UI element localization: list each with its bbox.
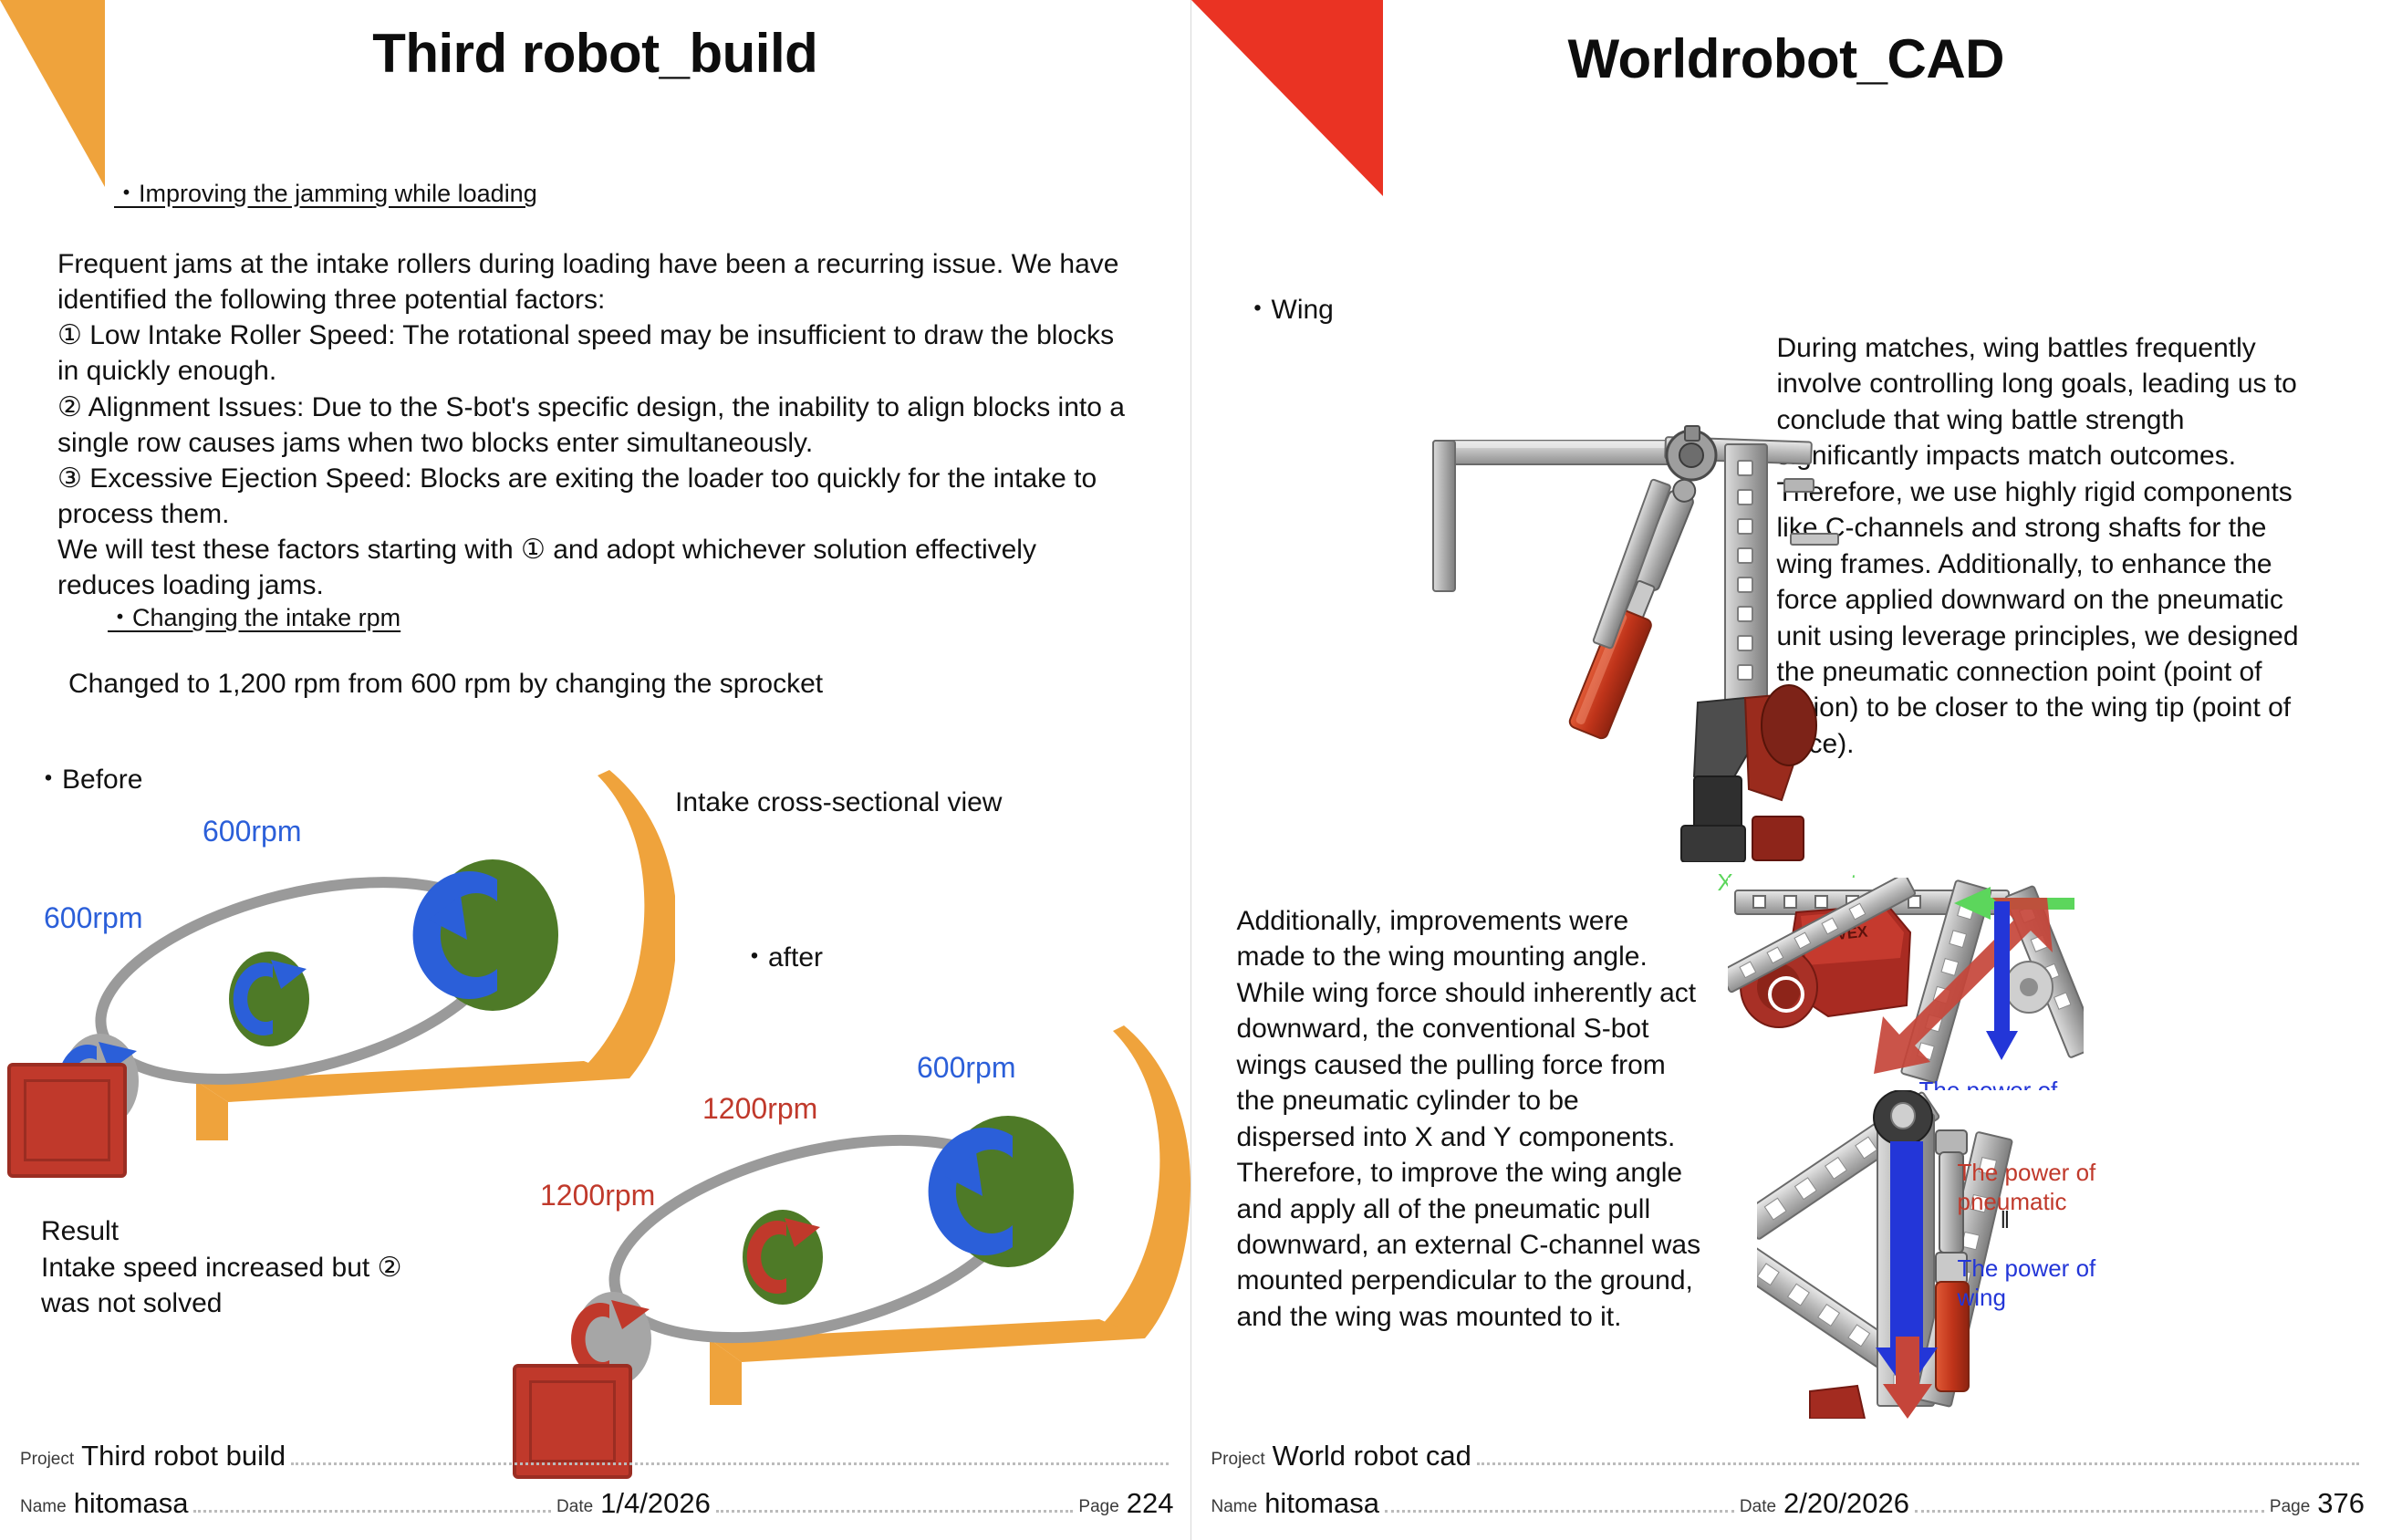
footer-name-label: Name (20, 1497, 67, 1520)
loader-curve-after-icon (1099, 1025, 1190, 1338)
body-paragraph-jamming-factors: Frequent jams at the intake rollers duri… (57, 246, 1134, 603)
footer-name-value: hitomasa (74, 1487, 189, 1520)
footer-page-label: Page (1078, 1497, 1118, 1520)
notebook-spread: Third robot_build ・Improving the jamming… (0, 0, 2381, 1540)
footer-name-row: Name hitomasa Date 2/20/2026 Page 376 (1211, 1487, 2365, 1520)
footer-page-value: 224 (1127, 1487, 1174, 1520)
section-heading-wing: ・Wing (1244, 292, 1334, 328)
result-note: Result Intake speed increased but ② was … (41, 1213, 401, 1322)
page-title: Third robot_build (0, 22, 1190, 85)
footer-dotted-line (1385, 1510, 1734, 1513)
footer-project-value: World robot cad (1273, 1440, 1471, 1472)
footer-project-row: Project Third robot build (20, 1440, 1174, 1472)
footer-name-value: hitomasa (1264, 1487, 1379, 1520)
cad-render-wing-arm (1424, 424, 1981, 862)
footer-name-label: Name (1211, 1497, 1258, 1520)
footer-date-label: Date (556, 1497, 593, 1520)
page-title: Worldrobot_CAD (1191, 27, 2381, 90)
footer-left: Project Third robot build Name hitomasa … (0, 1423, 1190, 1540)
footer-date-value: 1/4/2026 (600, 1487, 711, 1520)
footer-name-row: Name hitomasa Date 1/4/2026 Page 224 (20, 1487, 1174, 1520)
footer-project-value: Third robot build (81, 1440, 286, 1472)
body-paragraph-mounting-angle: Additionally, improvements were made to … (1237, 903, 1702, 1335)
block-red-before-body-icon (7, 1063, 127, 1178)
footer-right: Project World robot cad Name hitomasa Da… (1191, 1423, 2381, 1540)
footer-date-label: Date (1740, 1497, 1776, 1520)
footer-project-row: Project World robot cad (1211, 1440, 2365, 1472)
cad-label-power-of-wing-bottom: The power of wing (1958, 1254, 2096, 1312)
footer-project-label: Project (1211, 1450, 1265, 1472)
footer-page-value: 376 (2317, 1487, 2365, 1520)
footer-dotted-line (291, 1462, 1168, 1465)
footer-page-label: Page (2270, 1497, 2310, 1520)
cad-label-power-of-pneumatic: The power of pneumatic (1958, 1159, 2096, 1216)
rpm-change-note: Changed to 1,200 rpm from 600 rpm by cha… (68, 666, 823, 702)
footer-dotted-line (1915, 1510, 2264, 1513)
footer-dotted-line (716, 1510, 1074, 1513)
section-heading-improving-jamming: ・Improving the jamming while loading (114, 178, 537, 210)
page-left: Third robot_build ・Improving the jamming… (0, 0, 1191, 1540)
footer-dotted-line (193, 1510, 551, 1513)
footer-dotted-line (1477, 1462, 2359, 1465)
section-heading-changing-rpm: ・Changing the intake rpm (108, 602, 400, 634)
cross-section-label: Intake cross-sectional view (675, 785, 1002, 820)
footer-project-label: Project (20, 1450, 74, 1472)
page-right: Worldrobot_CAD ・Wing During matches, win… (1191, 0, 2381, 1540)
after-label: ・after (741, 940, 823, 975)
footer-date-value: 2/20/2026 (1783, 1487, 1909, 1520)
cad-label-equals-symbol: ‖ (2001, 1206, 2011, 1235)
cad-render-wing-old-angle: VEX (1728, 878, 2084, 1087)
